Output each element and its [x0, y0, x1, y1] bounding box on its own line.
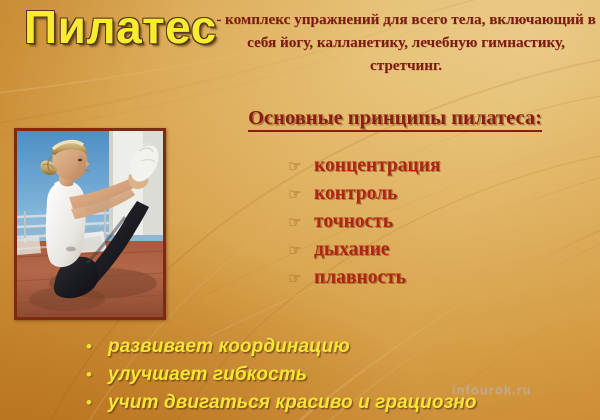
page-title: Пилатес	[24, 2, 217, 54]
pointing-hand-icon: ☞	[288, 187, 314, 202]
pilates-photo-inner	[17, 131, 163, 317]
benefit-label: учит двигаться красиво и грациозно	[108, 392, 477, 414]
list-item: ☞ плавность	[288, 264, 548, 292]
list-item: • улучшает гибкость	[86, 364, 586, 392]
bullet-dot-icon: •	[86, 394, 108, 411]
principle-label: точность	[314, 211, 393, 233]
principle-label: концентрация	[314, 155, 441, 177]
pointing-hand-icon: ☞	[288, 271, 314, 286]
intro-paragraph: - комплекс упражнений для всего тела, вк…	[216, 9, 596, 77]
principle-label: плавность	[314, 267, 406, 289]
pilates-slide: Пилатес - комплекс упражнений для всего …	[0, 0, 600, 420]
pointing-hand-icon: ☞	[288, 215, 314, 230]
pilates-teaser-pose-photo	[17, 131, 163, 317]
bullet-dot-icon: •	[86, 366, 108, 383]
list-item: ☞ дыхание	[288, 236, 548, 264]
principle-label: контроль	[314, 183, 397, 205]
list-item: ☞ точность	[288, 208, 548, 236]
principles-list: ☞ концентрация ☞ контроль ☞ точность ☞ д…	[288, 152, 548, 292]
principles-heading: Основные принципы пилатеса:	[196, 107, 594, 130]
pointing-hand-icon: ☞	[288, 243, 314, 258]
benefit-label: развивает координацию	[108, 336, 350, 358]
list-item: ☞ контроль	[288, 180, 548, 208]
pilates-photo	[14, 128, 166, 320]
list-item: ☞ концентрация	[288, 152, 548, 180]
bullet-dot-icon: •	[86, 338, 108, 355]
list-item: • развивает координацию	[86, 336, 586, 364]
list-item: • учит двигаться красиво и грациозно	[86, 392, 586, 420]
principles-heading-text: Основные принципы пилатеса:	[248, 107, 542, 132]
pointing-hand-icon: ☞	[288, 159, 314, 174]
principle-label: дыхание	[314, 239, 389, 261]
benefits-list: • развивает координацию • улучшает гибко…	[86, 336, 586, 420]
benefit-label: улучшает гибкость	[108, 364, 307, 386]
